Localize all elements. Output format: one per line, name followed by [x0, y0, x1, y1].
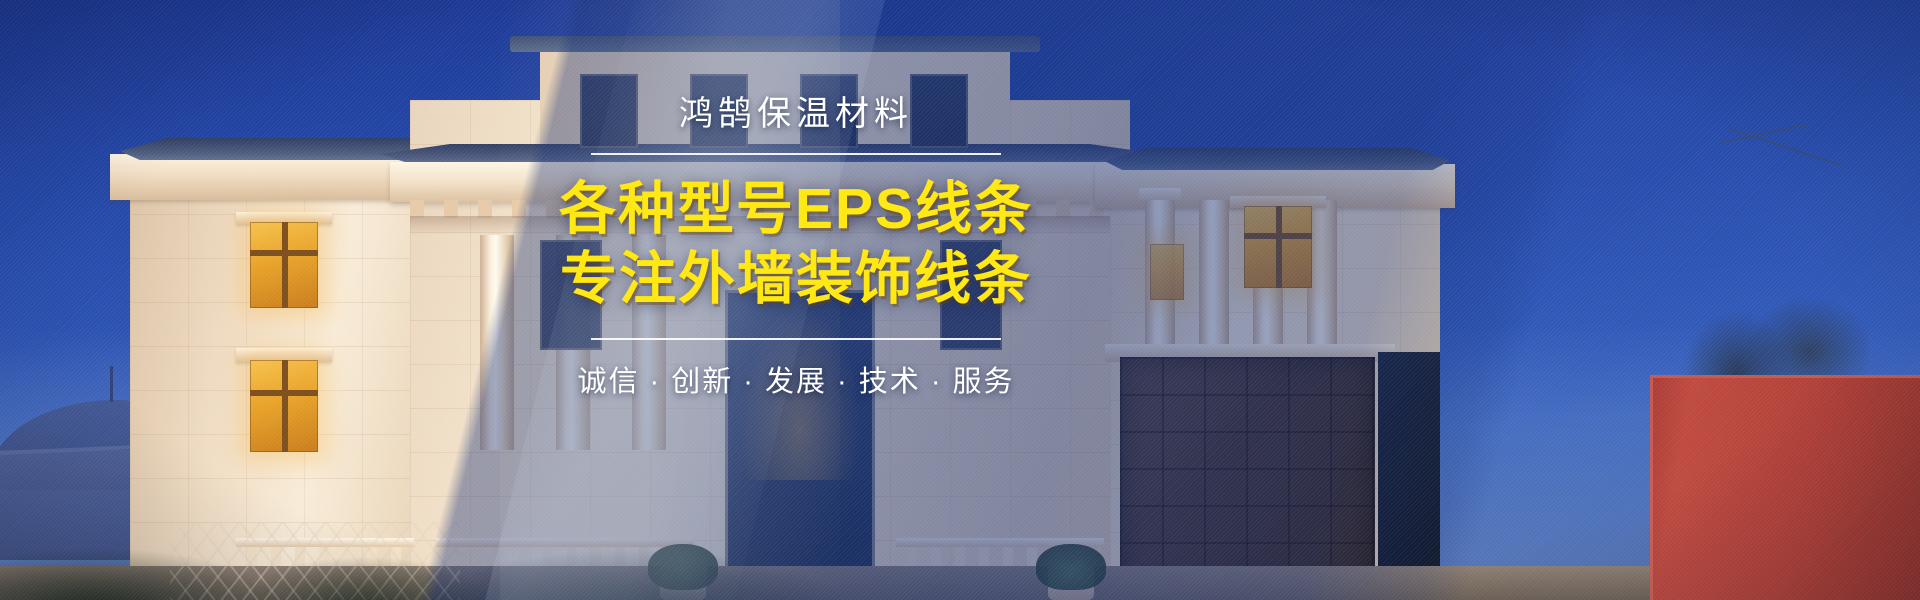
company-name: 鸿鹄保温材料 — [556, 96, 1036, 133]
headline-group: 各种型号EPS线条 专注外墙装饰线条 — [556, 175, 1036, 314]
divider-bottom — [591, 338, 1001, 340]
promotional-banner: 鸿鹄保温材料 各种型号EPS线条 专注外墙装饰线条 诚信 · 创新 · 发展 ·… — [0, 0, 1920, 600]
tagline: 诚信 · 创新 · 发展 · 技术 · 服务 — [556, 358, 1036, 400]
banner-text-block: 鸿鹄保温材料 各种型号EPS线条 专注外墙装饰线条 诚信 · 创新 · 发展 ·… — [556, 96, 1036, 400]
headline-line-2: 专注外墙装饰线条 — [556, 245, 1036, 315]
headline-line-1: 各种型号EPS线条 — [556, 175, 1036, 245]
divider-top — [591, 153, 1001, 155]
